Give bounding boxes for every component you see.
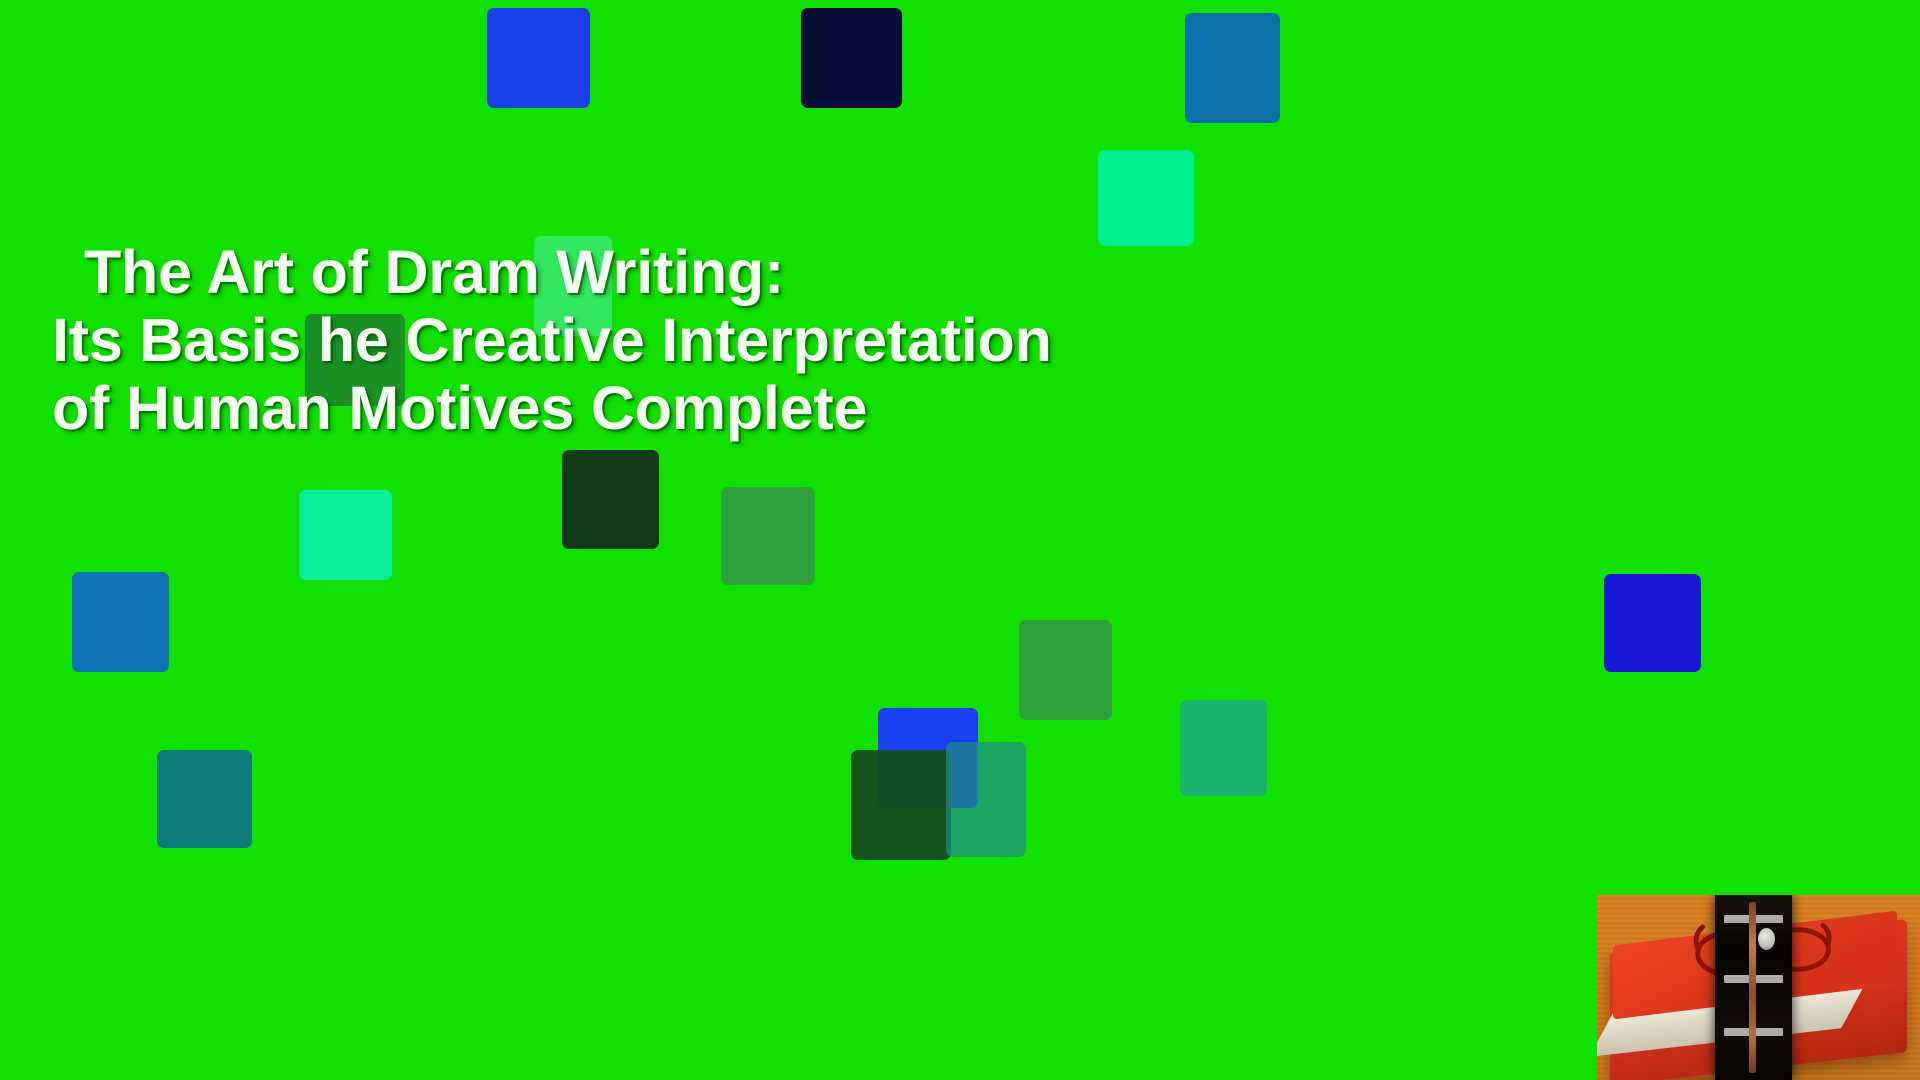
title-line-3: of Human Motives Complete <box>52 374 1232 442</box>
square-navy-top <box>801 8 902 108</box>
square-blue-right <box>1604 574 1701 672</box>
square-dark-green-mid <box>562 450 659 549</box>
square-darkgreen-cluster <box>851 750 951 860</box>
square-mint-mid-left <box>299 490 392 580</box>
spine-rod-highlight <box>1749 902 1756 1072</box>
square-royal-blue-top <box>487 8 590 108</box>
square-green-right <box>1019 620 1112 720</box>
square-spring-green-top <box>1098 150 1194 246</box>
thumbnail-canvas: The Art of Dram Writing: Its Basis he Cr… <box>0 0 1920 1080</box>
square-pale-green-title <box>534 236 612 336</box>
square-steel-blue-top <box>1185 13 1280 123</box>
square-teal-cluster <box>946 742 1026 857</box>
title-line-2: Its Basis he Creative Interpretation <box>52 306 1232 374</box>
spine-oval-emblem <box>1758 928 1775 950</box>
square-forest-title <box>305 314 405 406</box>
book-spine <box>1715 895 1793 1080</box>
square-teal-green-right <box>1180 700 1267 796</box>
page-title: The Art of Dram Writing: Its Basis he Cr… <box>52 238 1232 442</box>
title-line-1: The Art of Dram Writing: <box>52 238 1232 306</box>
square-medium-green-mid <box>721 487 815 585</box>
square-ocean-blue-left <box>72 572 169 672</box>
square-teal-bottom-left <box>157 750 252 848</box>
book-cover-thumbnail <box>1597 895 1920 1080</box>
